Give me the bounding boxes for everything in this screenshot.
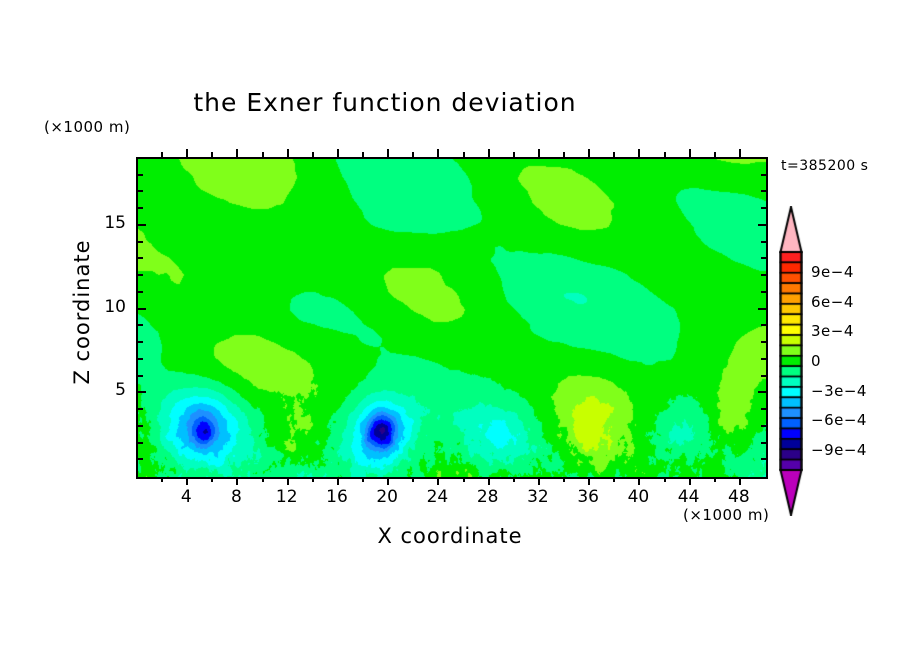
- x-tick-mark-top: [689, 149, 691, 157]
- x-tick-mark: [412, 477, 414, 482]
- y-axis-units-label: (×1000 m): [44, 118, 130, 136]
- x-tick-mark: [287, 477, 289, 485]
- x-tick-mark: [437, 477, 439, 485]
- x-tick-mark: [689, 477, 691, 485]
- x-tick-mark: [638, 477, 640, 485]
- y-tick-mark-right: [761, 324, 766, 326]
- x-tick-mark-top: [412, 152, 414, 157]
- y-tick-mark-right: [761, 257, 766, 259]
- y-tick-mark: [138, 224, 146, 226]
- y-tick-mark: [138, 257, 143, 259]
- x-tick-mark-top: [186, 149, 188, 157]
- y-tick-mark: [138, 308, 146, 310]
- x-tick-mark: [362, 477, 364, 482]
- y-tick-mark-right: [758, 224, 766, 226]
- y-tick-mark: [138, 458, 143, 460]
- contour-field-canvas: [138, 159, 766, 477]
- x-tick-mark: [463, 477, 465, 482]
- x-tick-mark-top: [739, 149, 741, 157]
- y-tick-mark-right: [761, 341, 766, 343]
- exner-deviation-figure: the Exner function deviation (×1000 m) t…: [0, 0, 904, 654]
- y-tick-mark: [138, 274, 143, 276]
- x-tick-mark-top: [387, 149, 389, 157]
- y-tick-mark-right: [761, 458, 766, 460]
- x-tick-mark-top: [588, 149, 590, 157]
- y-tick-mark: [138, 408, 143, 410]
- x-tick-mark: [262, 477, 264, 482]
- y-tick-mark-right: [761, 291, 766, 293]
- x-tick-mark: [186, 477, 188, 485]
- x-tick-mark-top: [664, 152, 666, 157]
- x-tick-mark: [739, 477, 741, 485]
- x-tick-mark-top: [362, 152, 364, 157]
- y-tick-mark-right: [758, 391, 766, 393]
- x-tick-mark-top: [262, 152, 264, 157]
- x-tick-label: 48: [709, 487, 769, 507]
- x-tick-mark: [563, 477, 565, 482]
- x-tick-mark-top: [463, 152, 465, 157]
- colorbar-tick-label: 9e−4: [811, 263, 854, 281]
- colorbar-tick-label: −9e−4: [811, 441, 867, 459]
- x-tick-mark: [161, 477, 163, 482]
- x-tick-mark: [312, 477, 314, 482]
- y-tick-mark: [138, 291, 143, 293]
- colorbar-tick-label: 0: [811, 352, 821, 370]
- contour-plot-area: [136, 157, 768, 479]
- x-tick-mark-top: [563, 152, 565, 157]
- x-tick-mark-top: [337, 149, 339, 157]
- y-tick-mark: [138, 358, 143, 360]
- x-tick-mark: [513, 477, 515, 482]
- y-tick-mark-right: [761, 375, 766, 377]
- x-tick-mark: [387, 477, 389, 485]
- x-tick-mark: [664, 477, 666, 482]
- x-tick-mark: [538, 477, 540, 485]
- x-tick-mark: [714, 477, 716, 482]
- x-tick-mark-top: [312, 152, 314, 157]
- y-tick-mark-right: [761, 190, 766, 192]
- y-tick-mark-right: [761, 442, 766, 444]
- colorbar-canvas: [779, 206, 803, 516]
- y-tick-mark: [138, 425, 143, 427]
- y-tick-mark-right: [758, 308, 766, 310]
- y-tick-mark-right: [761, 207, 766, 209]
- x-tick-mark-top: [211, 152, 213, 157]
- y-axis-title: Z coordinate: [70, 212, 94, 412]
- y-tick-mark: [138, 375, 143, 377]
- x-tick-mark-top: [638, 149, 640, 157]
- x-axis-units-label: (×1000 m): [683, 506, 769, 524]
- y-tick-mark: [138, 442, 143, 444]
- y-tick-mark: [138, 207, 143, 209]
- y-tick-mark-right: [761, 408, 766, 410]
- y-tick-mark: [138, 324, 143, 326]
- page-title: the Exner function deviation: [0, 88, 770, 117]
- colorbar: [779, 206, 803, 516]
- x-tick-mark-top: [437, 149, 439, 157]
- x-tick-mark: [337, 477, 339, 485]
- x-tick-mark: [613, 477, 615, 482]
- x-tick-mark-top: [513, 152, 515, 157]
- x-tick-mark: [236, 477, 238, 485]
- x-tick-mark: [211, 477, 213, 482]
- x-tick-mark-top: [161, 152, 163, 157]
- colorbar-tick-label: 6e−4: [811, 293, 854, 311]
- y-tick-mark: [138, 241, 143, 243]
- y-tick-mark-right: [761, 241, 766, 243]
- x-tick-mark: [588, 477, 590, 485]
- colorbar-tick-label: −3e−4: [811, 382, 867, 400]
- y-tick-mark-right: [761, 174, 766, 176]
- colorbar-tick-label: 3e−4: [811, 322, 854, 340]
- y-tick-mark-right: [761, 358, 766, 360]
- x-tick-mark-top: [488, 149, 490, 157]
- x-tick-mark-top: [714, 152, 716, 157]
- y-tick-mark: [138, 341, 143, 343]
- y-tick-mark-right: [761, 274, 766, 276]
- x-axis-title: X coordinate: [136, 524, 764, 548]
- y-tick-mark: [138, 190, 143, 192]
- x-tick-mark-top: [538, 149, 540, 157]
- colorbar-tick-label: −6e−4: [811, 411, 867, 429]
- y-tick-mark: [138, 174, 143, 176]
- y-tick-mark: [138, 391, 146, 393]
- x-tick-mark: [488, 477, 490, 485]
- x-tick-mark-top: [287, 149, 289, 157]
- x-tick-mark-top: [613, 152, 615, 157]
- time-stamp-label: t=385200 s: [781, 158, 868, 174]
- y-tick-mark-right: [761, 425, 766, 427]
- x-tick-mark-top: [236, 149, 238, 157]
